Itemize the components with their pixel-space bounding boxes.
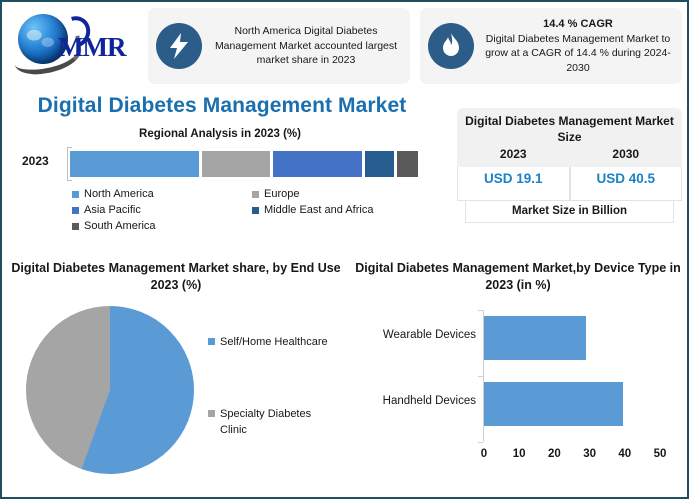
legend-label: Specialty Diabetes Clinic — [220, 406, 332, 438]
x-tick-label: 40 — [618, 448, 631, 460]
axis-tick — [478, 310, 483, 311]
market-size-values: USD 19.1 USD 40.5 — [457, 167, 682, 201]
device-chart-title: Digital Diabetes Management Market,by De… — [350, 260, 686, 294]
legend-swatch — [72, 207, 79, 214]
end-use-pie-chart: Digital Diabetes Management Market share… — [10, 260, 342, 492]
x-tick-label: 0 — [481, 448, 487, 460]
cagr-highlight: 14.4 % CAGR — [480, 17, 676, 32]
legend-label: South America — [84, 218, 156, 234]
regional-segment-north-america — [70, 151, 199, 177]
regional-year-label: 2023 — [22, 154, 49, 168]
header-card-region: North America Digital Diabetes Managemen… — [148, 8, 410, 84]
mmr-logo: MMR — [14, 10, 144, 74]
regional-segment-asia-pacific — [273, 151, 362, 177]
legend-row: North America Europe — [72, 186, 430, 202]
pie-chart-title: Digital Diabetes Management Market share… — [10, 260, 342, 294]
infographic-page: MMR North America Digital Diabetes Manag… — [0, 0, 689, 499]
market-size-year-right: 2030 — [570, 147, 683, 161]
axis-tick — [478, 376, 483, 377]
device-plot-area: Wearable Devices Handheld Devices 010203… — [350, 306, 686, 471]
regional-axis — [67, 147, 68, 181]
x-tick-label: 20 — [548, 448, 561, 460]
lightning-bolt-icon — [156, 23, 202, 69]
market-size-panel: Digital Diabetes Management Market Size … — [457, 108, 682, 244]
legend-label: Self/Home Healthcare — [220, 334, 332, 350]
regional-segment-south-america — [397, 151, 418, 177]
header: MMR North America Digital Diabetes Manag… — [2, 2, 687, 90]
bar-fill — [484, 316, 586, 360]
legend-item-south-america: South America — [72, 218, 252, 234]
header-card-cagr: 14.4 % CAGR Digital Diabetes Management … — [420, 8, 682, 84]
device-x-axis-ticks: 01020304050 — [484, 448, 660, 464]
legend-row: South America — [72, 218, 430, 234]
regional-legend: North America Europe Asia Pacific Middle… — [10, 186, 430, 234]
market-size-year-left: 2023 — [457, 147, 570, 161]
flame-icon — [428, 23, 474, 69]
x-tick-label: 30 — [583, 448, 596, 460]
regional-segment-europe — [202, 151, 270, 177]
bar-category-label: Handheld Devices — [383, 395, 476, 407]
bar-row: Wearable Devices — [484, 316, 586, 360]
brand-name: MMR — [58, 32, 125, 63]
header-card-region-text: North America Digital Diabetes Managemen… — [208, 24, 410, 68]
legend-label: Europe — [264, 186, 299, 202]
axis-tick — [478, 442, 483, 443]
regional-segment-middle-east-and-africa — [365, 151, 394, 177]
page-title: Digital Diabetes Management Market — [16, 94, 428, 118]
pie-legend: Self/Home Healthcare Specialty Diabetes … — [208, 334, 332, 494]
market-size-title: Digital Diabetes Management Market Size — [457, 108, 682, 147]
bar-category-label: Wearable Devices — [383, 329, 476, 341]
pie-graphic — [24, 304, 196, 476]
legend-item-europe: Europe — [252, 186, 299, 202]
legend-swatch — [72, 191, 79, 198]
bar-row: Handheld Devices — [484, 382, 623, 426]
legend-item-middle-east-africa: Middle East and Africa — [252, 202, 373, 218]
market-size-value-2023: USD 19.1 — [457, 167, 570, 201]
x-tick-label: 10 — [513, 448, 526, 460]
x-tick-label: 50 — [654, 448, 667, 460]
pie-plot-area: Self/Home Healthcare Specialty Diabetes … — [10, 304, 342, 494]
legend-swatch — [208, 410, 215, 417]
market-size-value-2030: USD 40.5 — [570, 167, 683, 201]
market-size-years: 2023 2030 — [457, 147, 682, 167]
header-card-cagr-text: 14.4 % CAGR Digital Diabetes Management … — [480, 17, 682, 75]
regional-analysis-chart: Regional Analysis in 2023 (%) 2023 North… — [10, 128, 430, 252]
legend-label: Asia Pacific — [84, 202, 141, 218]
pie-legend-item-self-home-healthcare: Self/Home Healthcare — [208, 334, 332, 350]
regional-chart-title: Regional Analysis in 2023 (%) — [10, 128, 430, 140]
pie-legend-item-specialty-diabetes-clinic: Specialty Diabetes Clinic — [208, 406, 332, 438]
legend-item-north-america: North America — [72, 186, 252, 202]
legend-swatch — [252, 191, 259, 198]
regional-stacked-bar — [70, 151, 418, 177]
device-type-bar-chart: Digital Diabetes Management Market,by De… — [350, 260, 686, 492]
legend-item-asia-pacific: Asia Pacific — [72, 202, 252, 218]
market-size-footer: Market Size in Billion — [465, 201, 674, 223]
legend-label: North America — [84, 186, 154, 202]
legend-label: Middle East and Africa — [264, 202, 373, 218]
legend-row: Asia Pacific Middle East and Africa — [72, 202, 430, 218]
legend-swatch — [72, 223, 79, 230]
bar-fill — [484, 382, 623, 426]
legend-swatch — [208, 338, 215, 345]
regional-bar-row: 2023 — [10, 147, 430, 181]
cagr-description: Digital Diabetes Management Market to gr… — [485, 33, 671, 74]
legend-swatch — [252, 207, 259, 214]
